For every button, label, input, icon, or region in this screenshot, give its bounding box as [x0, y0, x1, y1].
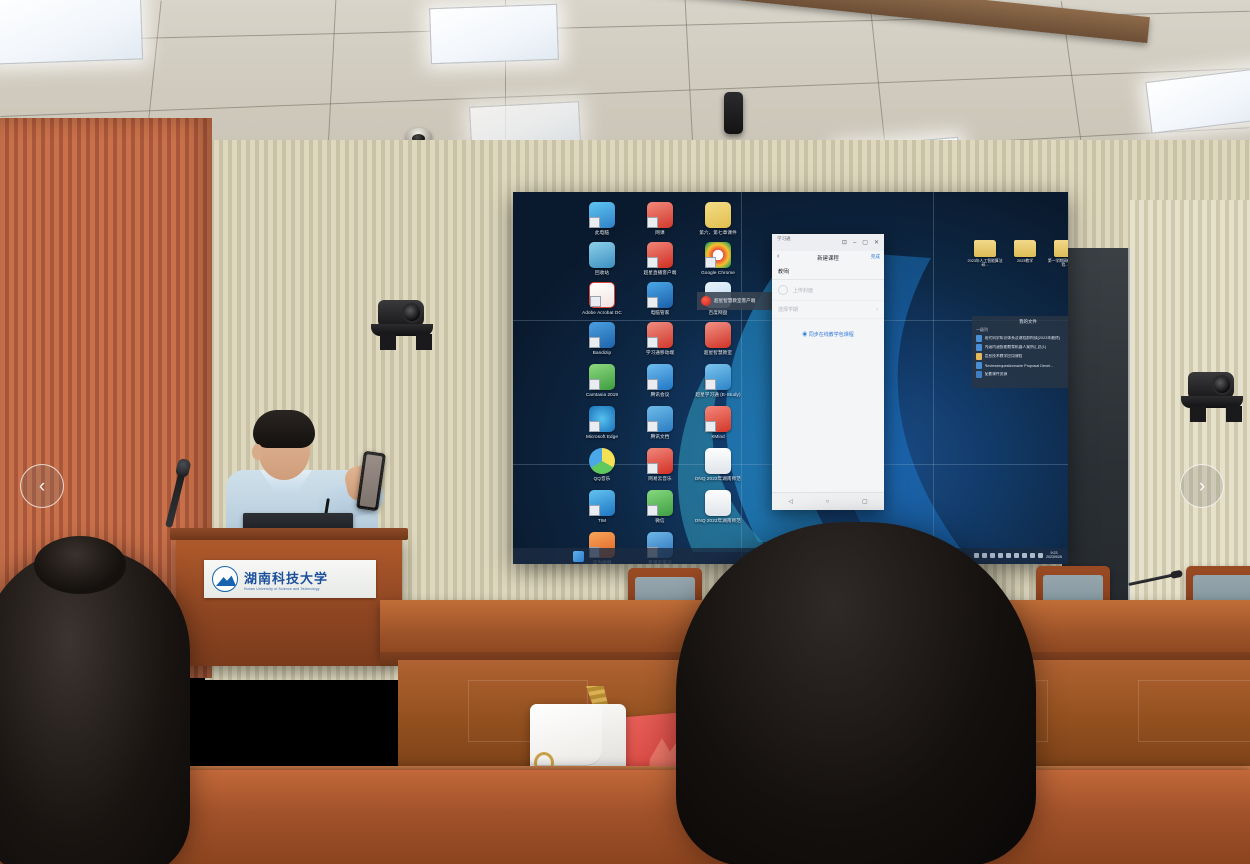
ceiling-light [0, 0, 143, 65]
cloud-icon[interactable] [982, 553, 987, 558]
file-list-panel[interactable]: 我的文件 一级列 现代科学知识体系及课程群构成(2023年最终) 内涵内涵智能教… [972, 316, 1068, 388]
desktop-icon[interactable]: DNQ 2022年湖南师范 [689, 448, 747, 481]
folder-icon [1014, 240, 1036, 257]
app-header: ‹ 新建课程 完成 [772, 251, 884, 264]
file-row[interactable]: 现代科学知识体系及课程群构成(2023年最终) [976, 335, 1068, 342]
ime-icon[interactable] [1030, 553, 1035, 558]
desktop-icon[interactable]: XMind [689, 406, 747, 439]
desktop-icon[interactable]: Bandizip [573, 322, 631, 355]
upload-cover-row[interactable]: 上传封面 [772, 280, 884, 301]
nav-home-icon[interactable]: ○ [826, 499, 830, 505]
desktop-icon[interactable]: 学习通移动端 [631, 322, 689, 355]
mountain-wave-logo [212, 566, 238, 592]
file-row[interactable]: 内涵内涵智能教育机器人案例汇总(1) [976, 344, 1068, 351]
chevron-right-icon: › [1199, 477, 1205, 496]
doc-icon [976, 335, 982, 342]
desktop-icon[interactable]: Microsoft Edge [573, 406, 631, 439]
monitor-icon[interactable] [1022, 553, 1027, 558]
desktop-folder[interactable]: 2023教学 [1005, 240, 1045, 263]
volume-icon[interactable] [1014, 553, 1019, 558]
university-plaque: 湖南科技大学 Hunan University of Science and T… [204, 560, 376, 598]
window-title-bar[interactable]: 学习通 ⊡ – ▢ ✕ [772, 234, 884, 251]
next-image-button[interactable]: › [1180, 464, 1224, 508]
nav-recents-icon[interactable]: ▢ [862, 498, 868, 505]
chevron-right-icon: › [876, 307, 878, 313]
desktop-icon[interactable]: TIM [573, 490, 631, 523]
desktop-folder[interactable]: 2023年人工智能算法研... [965, 240, 1005, 268]
desktop-icon[interactable]: 网课 [631, 202, 689, 235]
image-placeholder-icon [778, 285, 788, 295]
doc-icon [976, 362, 982, 369]
desktop-folder[interactable]: 第一学期网络教学课程... [1045, 240, 1068, 268]
desktop-icon[interactable]: 超星智慧教室 [689, 322, 747, 355]
windows-start-icon[interactable] [573, 551, 584, 562]
prev-image-button[interactable]: ‹ [20, 464, 64, 508]
done-button[interactable]: 完成 [871, 254, 880, 260]
folder-icon [1054, 240, 1068, 257]
close-icon[interactable]: ✕ [874, 240, 879, 246]
photo-viewer-stage: 此电脑 网课 第六、第七章课件 回收站 超星直播客户端 Google Chrom… [0, 0, 1250, 864]
desktop-icon[interactable]: 腾讯文档 [631, 406, 689, 439]
android-nav-bar[interactable]: ◁ ○ ▢ [772, 492, 884, 510]
folder-icon [976, 353, 982, 360]
minimize-icon[interactable]: – [853, 240, 856, 246]
lock-icon[interactable] [998, 553, 1003, 558]
folder-icon [974, 240, 996, 257]
taskbar-clock[interactable]: 9:23 2023/9/26 [1046, 551, 1062, 559]
desktop-icon[interactable]: Adobe Acrobat DC [573, 282, 631, 315]
course-name-input[interactable]: 教师| [772, 264, 884, 280]
desktop-icon[interactable]: 超星学习通 (E-Study) [689, 364, 747, 397]
file-row[interactable]: 信息技术教学应用课程 [976, 353, 1068, 360]
restore-icon[interactable]: ⊡ [842, 240, 847, 246]
podium: 湖南科技大学 Hunan University of Science and T… [176, 536, 402, 666]
sync-course-link[interactable]: ◉ 同步在线教学包课程 [772, 331, 884, 338]
chevron-left-icon[interactable]: ‹ [777, 253, 779, 260]
desktop-icon[interactable]: 腾讯会议 [631, 364, 689, 397]
desktop-icon[interactable]: QQ音乐 [573, 448, 631, 481]
audience-hair-bun [34, 536, 126, 594]
ceiling-speaker-icon [724, 92, 743, 134]
file-row[interactable]: 配套课件资源 [976, 371, 1068, 378]
desktop-icon[interactable]: 第六、第七章课件 [689, 202, 747, 235]
select-term-row[interactable]: 选择学期 › [772, 301, 884, 319]
doc-icon [976, 344, 982, 351]
desktop-icon[interactable]: 回收站 [573, 242, 631, 275]
system-tray[interactable]: 9:23 2023/9/26 [974, 551, 1062, 559]
desktop-icon[interactable]: 超星直播客户端 [631, 242, 689, 275]
chevron-up-icon[interactable] [974, 553, 979, 558]
led-video-wall[interactable]: 此电脑 网课 第六、第七章课件 回收站 超星直播客户端 Google Chrom… [513, 192, 1068, 564]
desktop-icon[interactable]: Camtasia 2019 [573, 364, 631, 397]
ptz-camera-icon [378, 300, 424, 327]
desktop-icon[interactable]: 此电脑 [573, 202, 631, 235]
phone-mirror-window[interactable]: 学习通 ⊡ – ▢ ✕ ‹ 新建课程 完成 教师| 上传封面 选择学期 › ◉ … [772, 234, 884, 510]
battery-icon[interactable] [1006, 553, 1011, 558]
maximize-icon[interactable]: ▢ [862, 240, 868, 246]
ceiling-light [429, 4, 559, 64]
desktop-icon[interactable]: 电脑管家 [631, 282, 689, 315]
ptz-camera-icon [1188, 372, 1234, 399]
audience-member-left [0, 548, 190, 864]
desktop-icon[interactable]: DNQ 2022年湖南师范 [689, 490, 747, 523]
panel-seam [933, 192, 934, 564]
audience-member-center [676, 522, 1036, 864]
network-icon[interactable] [1038, 553, 1043, 558]
desktop-icon[interactable]: Google Chrome [689, 242, 747, 275]
wifi-icon[interactable] [990, 553, 995, 558]
nav-back-icon[interactable]: ◁ [788, 498, 793, 505]
chaoxing-logo-icon [701, 296, 711, 306]
desktop-icon[interactable]: 微信 [631, 490, 689, 523]
ppt-icon [976, 371, 982, 378]
file-row[interactable]: Reviewerquestionnaire Proposal Devel... [976, 362, 1068, 369]
desktop-icon[interactable]: 网易云音乐 [631, 448, 689, 481]
chevron-left-icon: ‹ [39, 477, 45, 496]
